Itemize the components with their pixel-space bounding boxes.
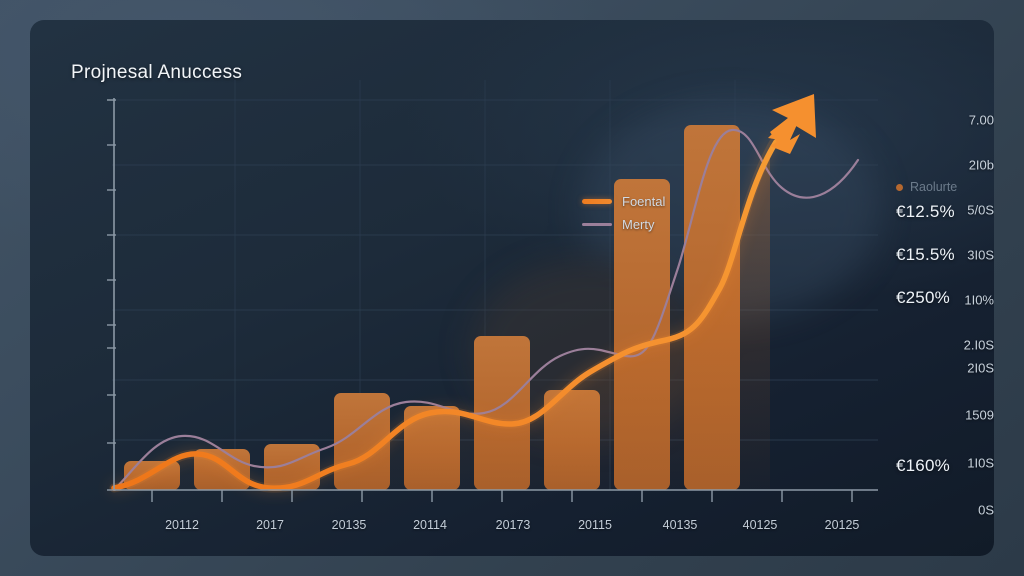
side-note-value: €15.5% (896, 245, 955, 265)
x-tick-label: 20135 (332, 518, 367, 532)
legend-label: Foental (622, 194, 665, 209)
legend-item-foental[interactable]: Foental (582, 194, 665, 209)
side-note-value: €250% (896, 288, 950, 308)
x-tick-label: 2017 (256, 518, 284, 532)
y-tick-label: 2.I0S (932, 338, 994, 353)
y-tick-label: 0S (932, 503, 994, 518)
legend-item-merty[interactable]: Merty (582, 217, 665, 232)
side-note-value: €160% (896, 456, 950, 476)
legend-label: Merty (622, 217, 655, 232)
side-note-value: €12.5% (896, 202, 955, 222)
x-tick-label: 20173 (496, 518, 531, 532)
chart-plot (30, 20, 994, 556)
x-tick-label: 40125 (743, 518, 778, 532)
x-tick-label: 20112 (165, 518, 199, 532)
x-tick-label: 20115 (578, 518, 612, 532)
chart-panel: Projnesal Anuccess (30, 20, 994, 556)
y-tick-label: 2I0b (932, 158, 994, 173)
x-tick-label: 40135 (663, 518, 698, 532)
x-tick-label: 20114 (413, 518, 447, 532)
y-tick-label: 7.00 (932, 113, 994, 128)
line-swatch-icon (582, 223, 612, 226)
chart-screenshot: Projnesal Anuccess (0, 0, 1024, 576)
y-tick-label: 2I0S (932, 361, 994, 376)
series-dot-icon (896, 184, 903, 191)
chart-legend: Foental Merty (582, 194, 665, 232)
y-tick-label: 1509 (932, 408, 994, 423)
x-tick-marks (152, 490, 852, 502)
x-tick-label: 20125 (825, 518, 860, 532)
side-legend-raolurte: Raolurte (896, 180, 957, 194)
line-swatch-icon (582, 199, 612, 204)
side-legend-label: Raolurte (910, 180, 957, 194)
